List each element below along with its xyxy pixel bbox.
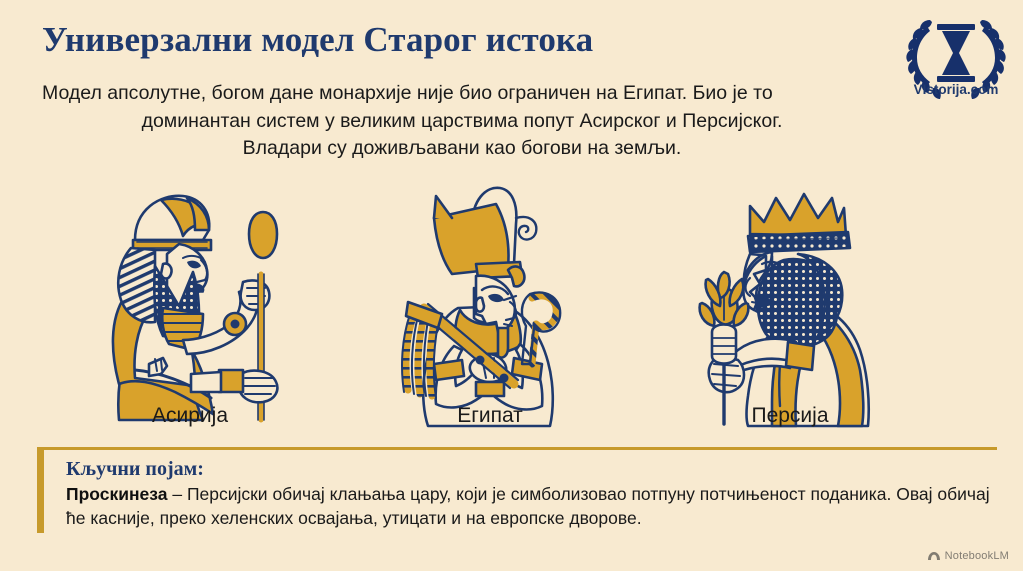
watermark-text: NotebookLM: [945, 550, 1009, 562]
key-term-definition: – Персијски обичај клањања цару, који је…: [66, 484, 990, 528]
subtitle-line-1: Модел апсолутне, богом дане монархије ни…: [36, 80, 888, 108]
subtitle-block: Модел апсолутне, богом дане монархије ни…: [36, 80, 888, 163]
logo-text: VIstorija.com: [897, 82, 1015, 97]
figures-row: [40, 166, 940, 428]
slide-canvas: Универзални модел Старог истока Модел ап…: [0, 0, 1023, 571]
figure-captions: Асирија Египат Персија: [40, 404, 940, 428]
figure-egypt: [365, 166, 615, 428]
caption-persia: Персија: [665, 404, 915, 428]
key-term-box: Кључни појам: Проскинеза – Персијски оби…: [37, 447, 997, 533]
notebooklm-watermark: NotebookLM: [927, 550, 1009, 562]
key-term-body: Проскинеза – Персијски обичај клањања ца…: [66, 483, 996, 531]
key-term-label: Кључни појам:: [66, 458, 997, 480]
site-logo: VIstorija.com: [897, 4, 1015, 108]
subtitle-line-2: доминантан систем у великим царствима по…: [36, 108, 888, 136]
figure-persia: [665, 166, 915, 428]
page-title: Универзални модел Старог истока: [42, 22, 902, 59]
assyrian-king-icon: [83, 178, 298, 428]
caption-assyria: Асирија: [65, 404, 315, 428]
notebooklm-icon: [927, 550, 941, 562]
persian-king-icon: [688, 170, 893, 428]
key-term-name: Проскинеза: [66, 484, 167, 504]
egyptian-pharaoh-icon: [390, 178, 590, 428]
figure-assyria: [65, 166, 315, 428]
subtitle-line-3: Владари су доживљавани као богови на зем…: [36, 135, 888, 163]
caption-egypt: Египат: [365, 404, 615, 428]
